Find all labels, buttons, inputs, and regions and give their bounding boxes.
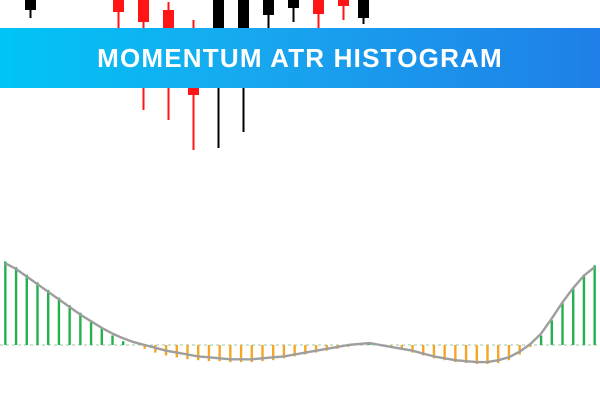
price-candle-chart bbox=[0, 0, 600, 180]
banner-title: MOMENTUM ATR HISTOGRAM bbox=[97, 43, 503, 74]
title-banner: MOMENTUM ATR HISTOGRAM bbox=[0, 28, 600, 88]
candle-body bbox=[338, 0, 349, 6]
candle-body bbox=[138, 0, 149, 22]
chart-screenshot: MOMENTUM ATR HISTOGRAM bbox=[0, 0, 600, 400]
momentum-atr-histogram-chart bbox=[0, 225, 600, 400]
candle-body bbox=[358, 0, 369, 18]
candle-body bbox=[313, 0, 324, 14]
candle-body bbox=[25, 0, 36, 10]
candle-body bbox=[288, 0, 299, 8]
signal-line bbox=[5, 263, 594, 362]
candle-body bbox=[263, 0, 274, 15]
candle-body bbox=[113, 0, 124, 12]
